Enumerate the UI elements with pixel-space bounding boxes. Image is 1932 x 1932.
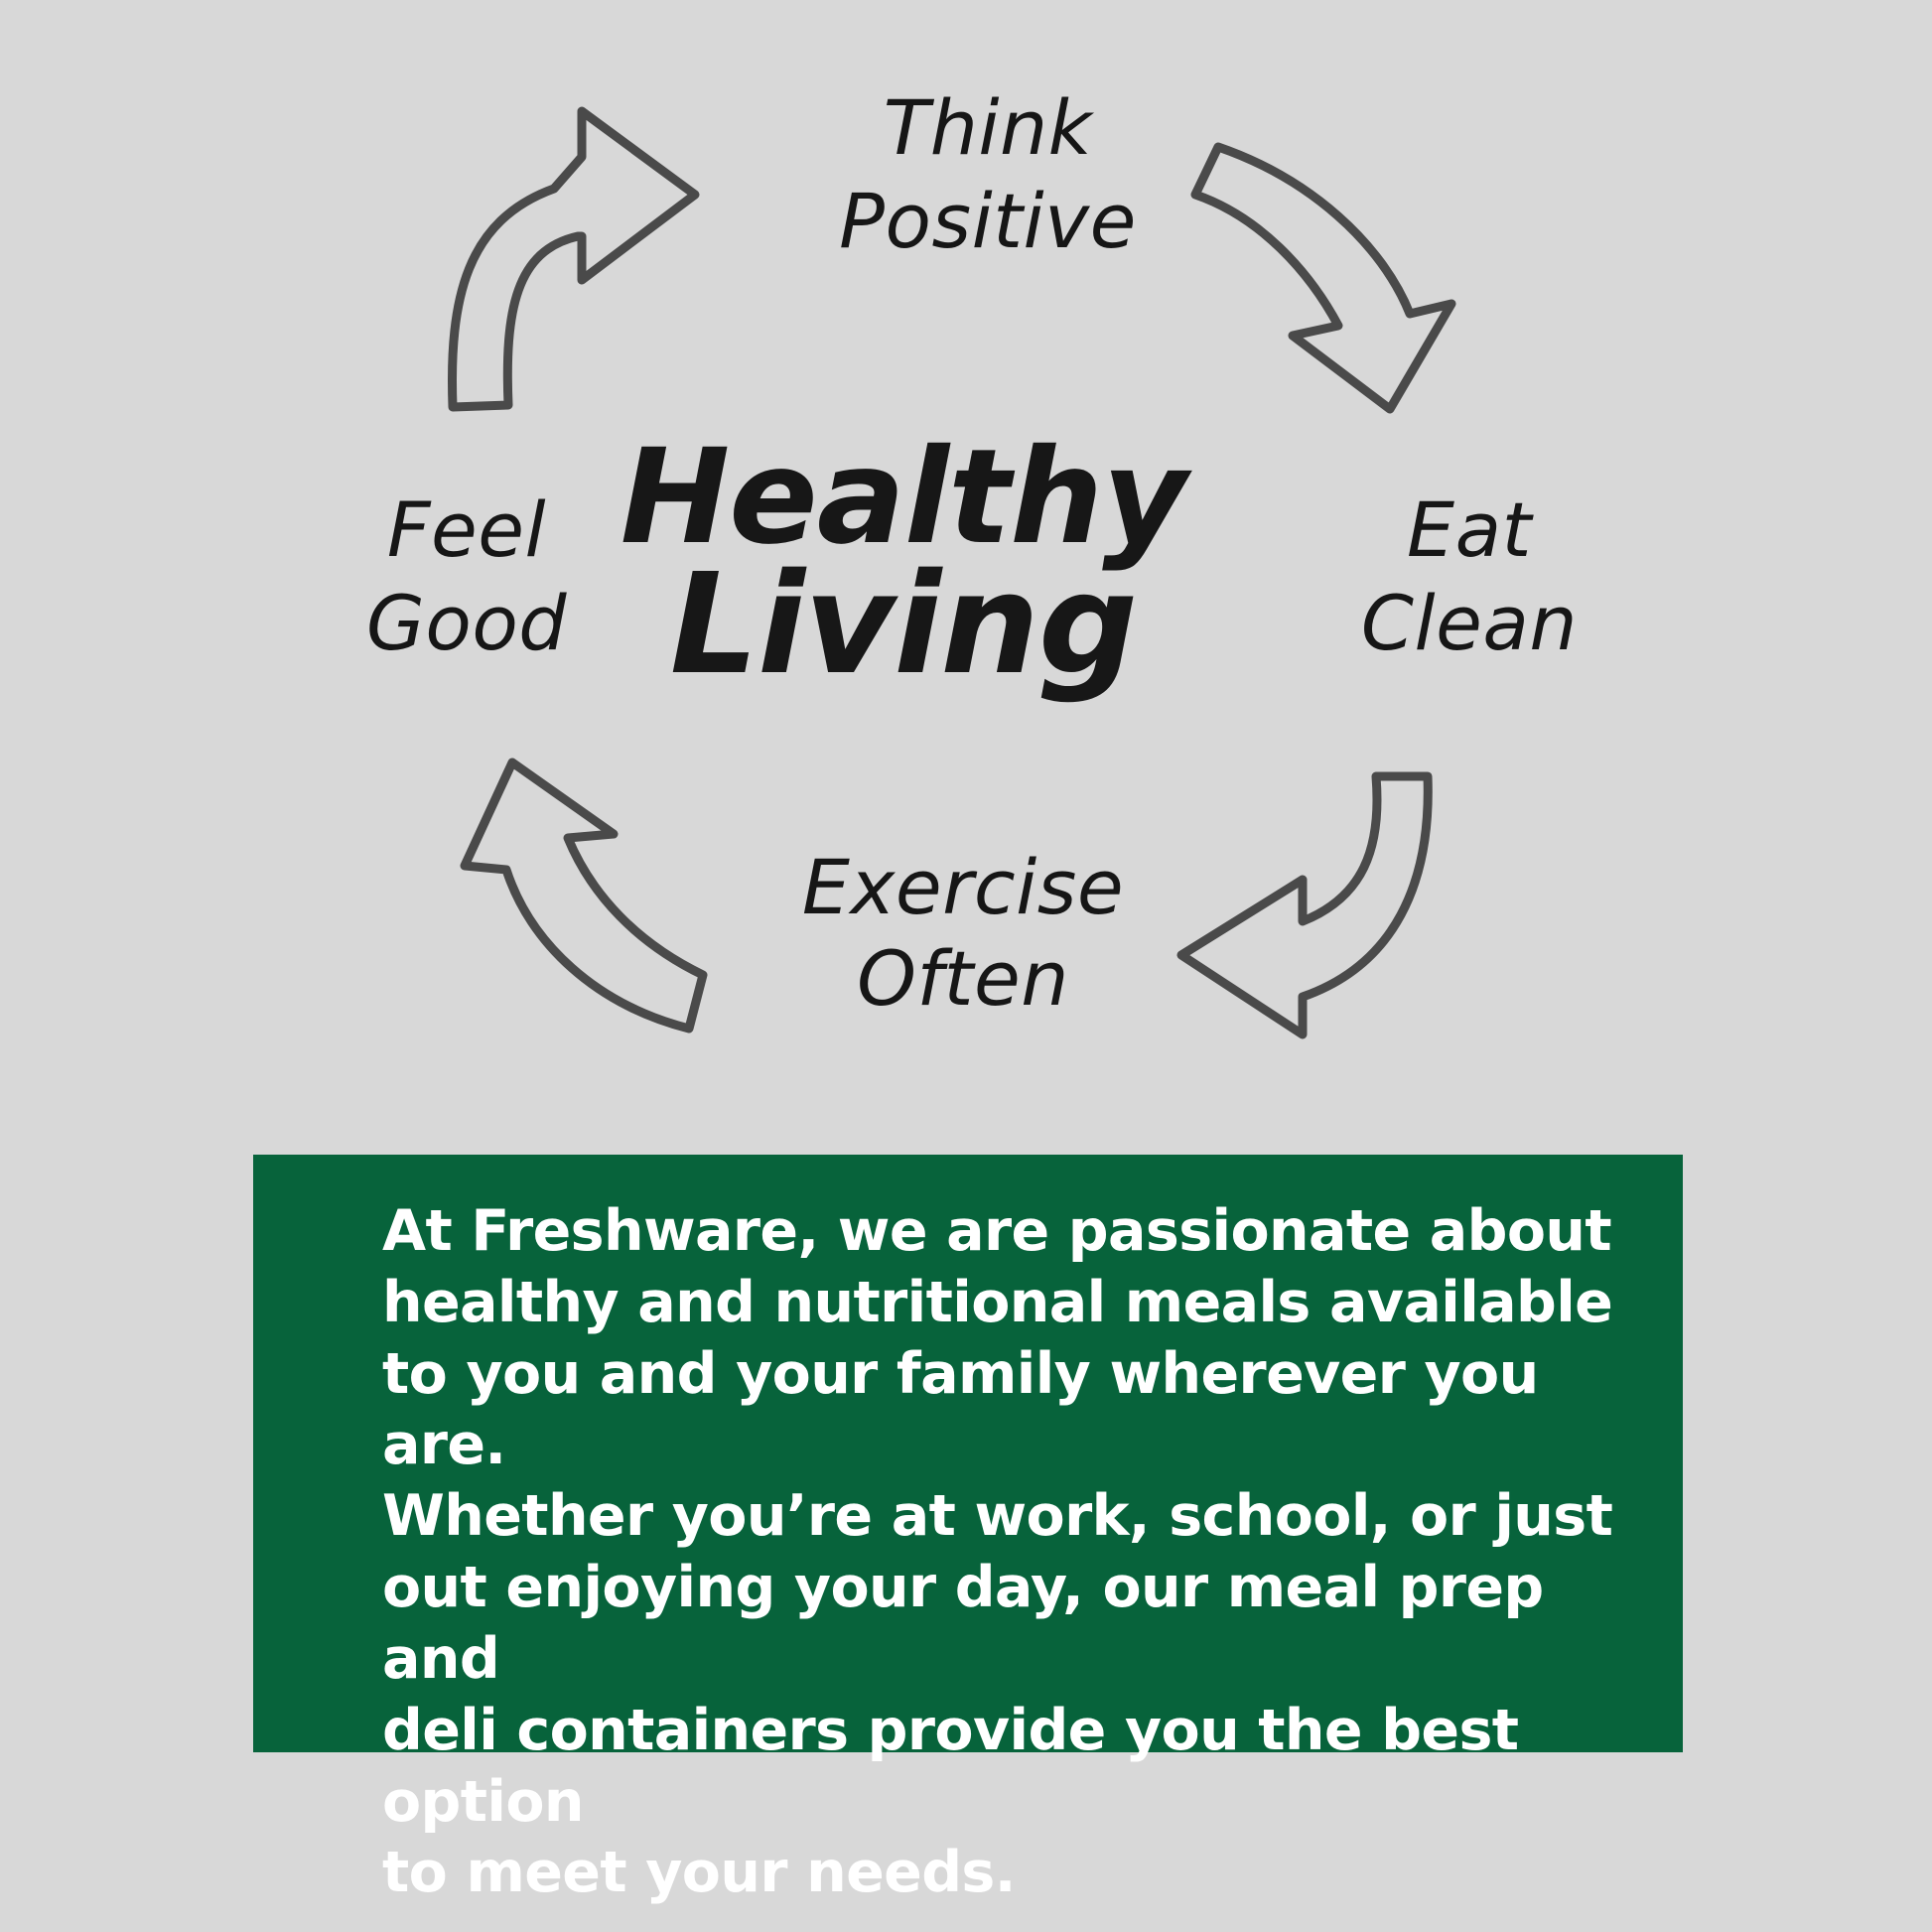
arrow-bottom-right-icon (1181, 776, 1428, 1035)
cycle-label-bottom: Exercise Often (730, 849, 1196, 1017)
healthy-living-cycle-diagram: Think Positive Feel Good Eat Clean Exerc… (0, 0, 1932, 1152)
cycle-label-right-line1: Eat (1407, 485, 1532, 574)
arrow-top-left-icon (452, 111, 695, 407)
cycle-label-top-line2: Positive (755, 183, 1221, 260)
poster-root: Think Positive Feel Good Eat Clean Exerc… (0, 0, 1932, 1932)
page-title: Healthy Living (556, 437, 1251, 690)
cycle-label-bottom-line2: Often (730, 940, 1196, 1018)
arrow-bottom-left-icon (465, 762, 703, 1029)
cycle-label-top-line1: Think (755, 89, 1221, 167)
cycle-label-right: Eat Clean (1320, 491, 1618, 661)
cycle-label-left-line1: Feel (387, 485, 546, 574)
arrow-top-right-icon (1195, 147, 1451, 409)
brand-copy-panel: At Freshware, we are passionate about he… (253, 1155, 1683, 1752)
cycle-label-right-line2: Clean (1320, 585, 1618, 662)
page-title-line1: Healthy (556, 437, 1251, 559)
brand-copy-text: At Freshware, we are passionate about he… (382, 1196, 1653, 1909)
cycle-label-top: Think Positive (755, 89, 1221, 259)
cycle-label-bottom-line1: Exercise (802, 843, 1124, 931)
page-title-line2: Living (556, 561, 1251, 690)
